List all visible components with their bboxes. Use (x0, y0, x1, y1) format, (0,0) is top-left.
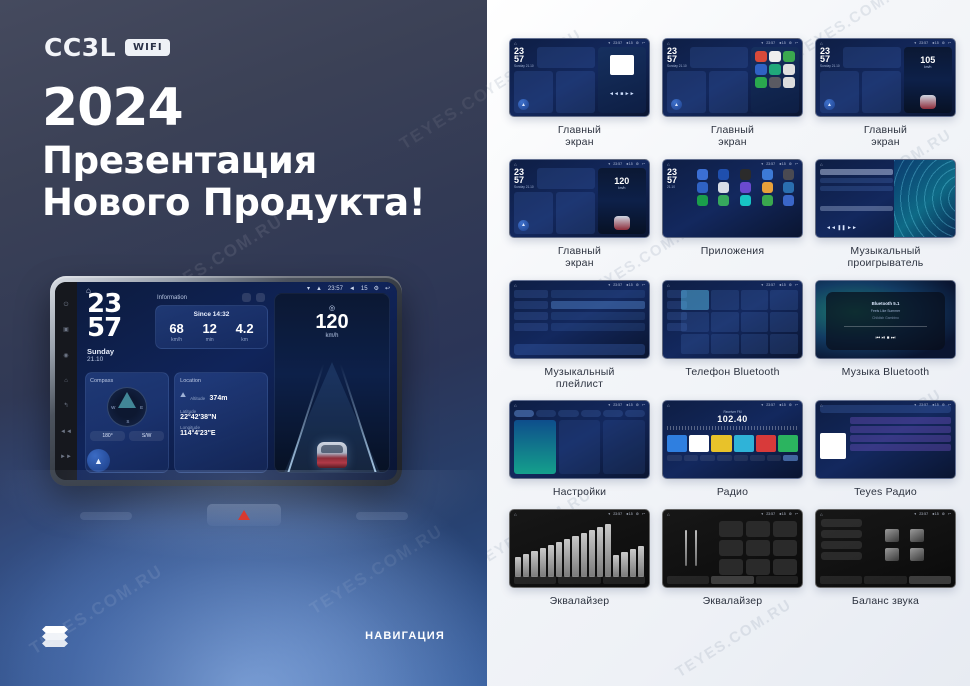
volume-icon: ◄15 (931, 41, 939, 45)
wifi-icon: ▾ (608, 512, 610, 516)
volume-icon: ◄15 (625, 41, 633, 45)
speed-readout: ◎ 120 km/h (275, 304, 389, 339)
status-bar: ▾ 23:57 ◄15 ⚙ ↩ (761, 162, 798, 166)
gear-icon: ⚙ (789, 41, 792, 45)
wifi-icon: ▾ (608, 283, 610, 287)
volume-icon: ◄15 (931, 512, 939, 516)
thumb-settings[interactable]: ⌂ ▾ 23:57 ◄15 ⚙ ↩ (509, 400, 650, 479)
head-unit-bezel: ⏻ ▣ ◉ ⌂ ↰ ◄◄ ►► ⌂ ▾ ▲ 23:57 (50, 276, 402, 486)
status-bar: ▾ 23:57 ◄15 ⚙ ↩ (761, 41, 798, 45)
gear-icon: ⚙ (942, 41, 945, 45)
thumb-equalizer-presets[interactable]: ⌂ ▾ 23:57 ◄15 ⚙ ↩ (662, 509, 803, 588)
status-bar: ▾ 23:57 ◄15 ⚙ ↩ (761, 512, 798, 516)
clock-minutes: 57 (87, 317, 149, 341)
screens-gallery: TEYES.COM.RU TEYES.COM.RU TEYES.COM.RU T… (487, 0, 970, 686)
back-icon: ↩ (642, 283, 645, 287)
gallery-cell-caption: Телефон Bluetooth (685, 366, 779, 378)
location-widget[interactable]: Location ⛰ Altitude 374m (174, 372, 268, 473)
gear-icon: ⚙ (789, 283, 792, 287)
status-bar: ▾ ▲ 23:57 ◄ 15 ⚙ ↩ (307, 285, 390, 292)
gallery-cell: ⌂ ▾ 23:57 ◄15 ⚙ ↩ Эквалайзер (662, 509, 803, 607)
gear-icon: ⚙ (636, 162, 639, 166)
status-time: 23:57 (766, 162, 775, 166)
hazard-button[interactable] (207, 504, 281, 526)
back-icon: ↩ (795, 283, 798, 287)
status-bar: ▾ 23:57 ◄15 ⚙ ↩ (914, 41, 951, 45)
trip-stat-value: 12 (202, 322, 216, 335)
watermark: TEYES.COM.RU (673, 596, 795, 681)
wifi-icon: ▾ (761, 162, 763, 166)
key-home-icon[interactable]: ⌂ (64, 378, 68, 384)
wifi-icon: ▾ (307, 285, 310, 292)
navigation-arrow-icon[interactable]: ▲ (87, 449, 110, 472)
thumb-sound-balance[interactable]: ⌂ ▾ 23:57 ◄15 ⚙ ↩ (815, 509, 956, 588)
status-time: 23:57 (613, 512, 622, 516)
trip-stat-unit: min (202, 337, 216, 343)
gallery-cell-caption: Главныйэкран (558, 124, 601, 149)
status-time: 23:57 (328, 286, 343, 292)
status-volume: 15 (361, 286, 368, 292)
gallery-cell-caption: Баланс звука (852, 595, 919, 607)
back-icon: ↩ (642, 41, 645, 45)
home-icon: ⌂ (514, 283, 517, 288)
thumb-home-screen-apps[interactable]: ⌂ ▾ 23:57 ◄15 ⚙ ↩ 2357Sunday 21.10 (662, 38, 803, 117)
volume-icon: ◄15 (778, 162, 786, 166)
status-time: 23:57 (613, 162, 622, 166)
gear-icon: ⚙ (789, 162, 792, 166)
status-time: 23:57 (613, 403, 622, 407)
brand-logo: CC3L WIFI (44, 33, 170, 62)
back-icon: ↩ (948, 512, 951, 516)
home-icon[interactable]: ⌂ (86, 286, 91, 295)
latitude-value: 22°42'38"N (180, 414, 262, 421)
gear-icon: ⚙ (789, 512, 792, 516)
car-dashboard: ⏻ ▣ ◉ ⌂ ↰ ◄◄ ►► ⌂ ▾ ▲ 23:57 (0, 258, 487, 558)
trip-stat-unit: km (236, 337, 254, 343)
headline-year: 2024 (42, 82, 472, 135)
expand-icon[interactable] (256, 293, 265, 302)
gear-icon: ⚙ (789, 403, 792, 407)
volume-icon: ◄ (349, 286, 355, 292)
status-time: 23:57 (613, 41, 622, 45)
thumb-music-player[interactable]: ⌂ ▾ 23:57 ◄15 ⚙ ↩ ◄ (815, 159, 956, 238)
gallery-cell: ⌂ ▾ 23:57 ◄15 ⚙ ↩ ◄ (815, 159, 956, 270)
gear-icon: ⚙ (942, 512, 945, 516)
information-title: Information (157, 295, 187, 301)
home-icon: ⌂ (820, 512, 823, 517)
status-bar: ▾ 23:57 ◄15 ⚙ ↩ (608, 162, 645, 166)
physical-side-keys[interactable]: ⏻ ▣ ◉ ⌂ ↰ ◄◄ ►► (55, 282, 77, 480)
status-bar: ▾ 23:57 ◄15 ⚙ ↩ (761, 403, 798, 407)
home-icon: ⌂ (667, 283, 670, 288)
volume-icon: ◄15 (625, 283, 633, 287)
gallery-cell: ⌂ ▾ 23:57 ◄15 ⚙ ↩ (815, 509, 956, 607)
clock-day: Sunday (87, 347, 149, 356)
compass-title: Compass (90, 378, 164, 384)
key-mode-icon[interactable]: ▣ (63, 327, 69, 333)
gallery-cell-caption: Музыкальныйпроигрыватель (848, 245, 924, 270)
back-icon: ↩ (642, 403, 645, 407)
compass-w: W (111, 405, 115, 410)
back-icon: ↩ (642, 512, 645, 516)
navigation-label: НАВИГАЦИЯ (365, 630, 445, 642)
gear-icon: ⚙ (636, 41, 639, 45)
gallery-cell-caption: Музыкальныйплейлист (544, 366, 614, 391)
gallery-cell-caption: Главныйэкран (711, 124, 754, 149)
layers-icon (42, 626, 70, 648)
thumb-home-screen-drive[interactable]: ⌂ ▾ 23:57 ◄15 ⚙ ↩ 2357Sunday 21.10 (815, 38, 956, 117)
volume-icon: ◄15 (625, 403, 633, 407)
gallery-cell-caption: Настройки (553, 486, 606, 498)
gear-icon: ⚙ (636, 403, 639, 407)
air-vent-left (80, 512, 132, 520)
gallery-cell: ⌂ ▾ 23:57 ◄15 ⚙ ↩ 2357Sunday 21.10 (509, 159, 650, 270)
gallery-cell: ⌂ ▾ 23:57 ◄15 ⚙ ↩ Телефон Bluetooth (662, 280, 803, 391)
volume-icon: ◄15 (778, 283, 786, 287)
headline-line-1: Презентация (42, 140, 472, 182)
compass-direction: S/W (129, 431, 164, 441)
thumb-home-screen-speed[interactable]: ⌂ ▾ 23:57 ◄15 ⚙ ↩ 2357Sunday 21.10 (509, 159, 650, 238)
wifi-icon: ▾ (914, 41, 916, 45)
status-bar: ▾ 23:57 ◄15 ⚙ ↩ (914, 512, 951, 516)
wifi-icon: ▾ (608, 403, 610, 407)
thumb-music-playlist[interactable]: ⌂ ▾ 23:57 ◄15 ⚙ ↩ (509, 280, 650, 359)
home-icon: ⌂ (514, 162, 517, 167)
thumb-radio[interactable]: ⌂ ▾ 23:57 ◄15 ⚙ ↩ Receiver FM 102.40 (662, 400, 803, 479)
gallery-cell: ⌂ ▾ 23:57 ◄15 ⚙ ↩ Настройки (509, 400, 650, 498)
location-title: Location (180, 378, 262, 384)
gear-icon: ⚙ (636, 283, 639, 287)
status-bar: ▾ 23:57 ◄15 ⚙ ↩ (608, 283, 645, 287)
back-icon[interactable]: ↩ (385, 285, 390, 292)
headline-line-2: Нового Продукта! (42, 182, 472, 224)
head-unit-screen[interactable]: ⌂ ▾ ▲ 23:57 ◄ 15 ⚙ ↩ (77, 282, 397, 480)
thumb-teyes-radio[interactable]: ⌂ ▾ 23:57 ◄15 ⚙ ↩ (815, 400, 956, 479)
compass-heading: 180° (90, 431, 125, 441)
status-time: 23:57 (766, 41, 775, 45)
thumbnail-grid: ⌂ ▾ 23:57 ◄15 ⚙ ↩ 2357Sunday 21.10 (509, 38, 956, 607)
home-icon: ⌂ (667, 403, 670, 408)
volume-icon: ◄15 (625, 512, 633, 516)
thumb-equalizer-bands[interactable]: ⌂ ▾ 23:57 ◄15 ⚙ ↩ (509, 509, 650, 588)
status-time: 23:57 (919, 41, 928, 45)
wifi-icon: ▾ (761, 41, 763, 45)
status-time: 23:57 (919, 512, 928, 516)
thumb-applications[interactable]: ⌂ ▾ 23:57 ◄15 ⚙ ↩ 235721.10 (662, 159, 803, 238)
back-icon: ↩ (642, 162, 645, 166)
trip-stat-unit: km/h (169, 337, 183, 343)
presentation-slide: TEYES.COM.RU TEYES.COM.RU TEYES.COM.RU T… (0, 0, 970, 686)
back-icon: ↩ (795, 162, 798, 166)
gallery-cell: ⌂ ▾ 23:57 ◄15 ⚙ ↩ 2357Sunday 21.10 (815, 38, 956, 149)
gallery-cell: ⌂ ▾ 23:57 ◄15 ⚙ ↩ Музыкальныйплейлист (509, 280, 650, 391)
gallery-cell: ⌂ ▾ 23:57 ◄15 ⚙ ↩ Receiver FM 102.40 (662, 400, 803, 498)
refresh-icon[interactable] (242, 293, 251, 302)
volume-icon: ◄15 (778, 41, 786, 45)
status-time: 23:57 (766, 403, 775, 407)
trip-stat-value: 4.2 (236, 322, 254, 335)
status-bar: ▾ 23:57 ◄15 ⚙ ↩ (761, 283, 798, 287)
wifi-icon: ▾ (761, 283, 763, 287)
gear-icon: ⚙ (636, 512, 639, 516)
signal-icon: ▲ (316, 286, 322, 292)
trip-since: Since 14:32 (160, 311, 263, 318)
clock-date: 21.10 (87, 356, 149, 363)
gear-icon[interactable]: ⚙ (374, 285, 379, 292)
car-3d-model (317, 442, 347, 468)
gallery-cell-caption: Эквалайзер (550, 595, 610, 607)
wifi-icon: ▾ (761, 403, 763, 407)
wifi-icon: ▾ (608, 162, 610, 166)
key-next-icon[interactable]: ►► (60, 454, 72, 460)
wifi-icon: ▾ (608, 41, 610, 45)
status-bar: ▾ 23:57 ◄15 ⚙ ↩ (608, 403, 645, 407)
speed-unit: km/h (275, 333, 389, 339)
hazard-triangle-icon (238, 510, 250, 520)
gallery-cell: ⌂ ▾ 23:57 ◄15 ⚙ ↩ Teyes Радио (815, 400, 956, 498)
hero-panel: TEYES.COM.RU TEYES.COM.RU TEYES.COM.RU T… (0, 0, 487, 686)
status-time: 23:57 (766, 283, 775, 287)
gallery-cell: ⌂ ▾ 23:57 ◄15 ⚙ ↩ 235721.10 Приложения (662, 159, 803, 270)
back-icon: ↩ (795, 403, 798, 407)
home-icon: ⌂ (667, 512, 670, 517)
status-bar: ▾ 23:57 ◄15 ⚙ ↩ (608, 41, 645, 45)
speed-value: 120 (275, 312, 389, 333)
status-time: 23:57 (766, 512, 775, 516)
clock-widget: 23 57 Sunday 21.10 (85, 293, 149, 367)
gallery-cell: ⌂ ▾ 23:57 ◄15 ⚙ ↩ 2357Sunday 21.10 (509, 38, 650, 149)
thumb-bluetooth-phone[interactable]: ⌂ ▾ 23:57 ◄15 ⚙ ↩ (662, 280, 803, 359)
volume-icon: ◄15 (625, 162, 633, 166)
gallery-cell-caption: Музыка Bluetooth (842, 366, 930, 378)
logo-text: CC3L (44, 33, 116, 62)
home-icon: ⌂ (820, 162, 823, 167)
hero-footer: НАВИГАЦИЯ (0, 626, 487, 656)
altitude-value: 374m (210, 395, 228, 402)
gallery-cell-caption: Эквалайзер (703, 595, 763, 607)
thumb-bluetooth-music[interactable]: ⌂ ▾ 23:57 ◄15 ⚙ ↩ Bluetooth 5.1 Feels Li… (815, 280, 956, 359)
gallery-cell: ⌂ ▾ 23:57 ◄15 ⚙ ↩ Эквалайзер (509, 509, 650, 607)
dashboard-lower-console (0, 470, 487, 560)
home-icon: ⌂ (514, 512, 517, 517)
status-bar: ▾ 23:57 ◄15 ⚙ ↩ (608, 512, 645, 516)
drive-view-widget[interactable]: ◎ 120 km/h (274, 293, 390, 473)
key-back-icon[interactable]: ↰ (63, 403, 68, 409)
compass-e: E (140, 405, 143, 410)
gallery-cell: ⌂ ▾ 23:57 ◄15 ⚙ ↩ 2357Sunday 21.10 (662, 38, 803, 149)
gallery-cell-caption: Главныйэкран (864, 124, 907, 149)
information-widget[interactable]: Information Since 14:32 (155, 293, 268, 367)
back-icon: ↩ (795, 41, 798, 45)
gallery-cell-caption: Главныйэкран (558, 245, 601, 270)
air-vent-right (356, 512, 408, 520)
volume-icon: ◄15 (778, 403, 786, 407)
key-volume-icon[interactable]: ◉ (63, 353, 68, 359)
home-icon: ⌂ (514, 403, 517, 408)
key-power-icon[interactable]: ⏻ (64, 302, 69, 308)
trip-stat-value: 68 (169, 322, 183, 335)
back-icon: ↩ (948, 41, 951, 45)
volume-icon: ◄15 (778, 512, 786, 516)
headline: 2024 Презентация Нового Продукта! (42, 82, 472, 224)
gallery-cell-caption: Радио (717, 486, 748, 498)
back-icon: ↩ (795, 512, 798, 516)
gallery-cell-caption: Приложения (701, 245, 764, 257)
wifi-icon: ▾ (914, 512, 916, 516)
gallery-cell-caption: Teyes Радио (854, 486, 917, 498)
key-prev-icon[interactable]: ◄◄ (60, 429, 72, 435)
status-time: 23:57 (613, 283, 622, 287)
home-icon: ⌂ (667, 162, 670, 167)
mountain-icon: ⛰ (180, 392, 186, 400)
compass-rose-icon: W E S (107, 387, 147, 427)
longitude-value: 114°4'23"E (180, 430, 262, 437)
wifi-badge: WIFI (125, 39, 170, 56)
thumb-home-screen-media[interactable]: ⌂ ▾ 23:57 ◄15 ⚙ ↩ 2357Sunday 21.10 (509, 38, 650, 117)
gallery-cell: ⌂ ▾ 23:57 ◄15 ⚙ ↩ Bluetooth 5.1 Feels Li… (815, 280, 956, 391)
altitude-label: Altitude (190, 396, 205, 401)
trip-card: Since 14:32 68 km/h 12 (155, 305, 268, 349)
compass-s: S (126, 419, 129, 424)
wifi-icon: ▾ (761, 512, 763, 516)
